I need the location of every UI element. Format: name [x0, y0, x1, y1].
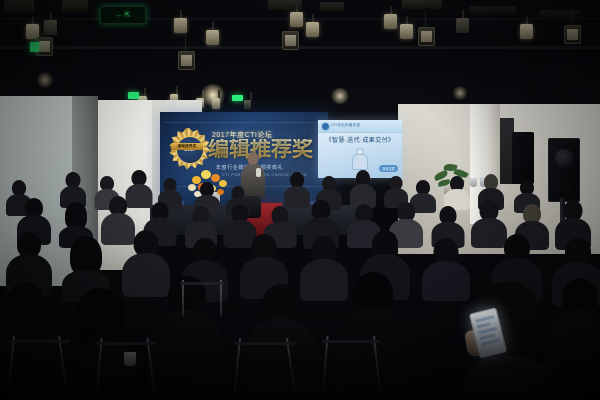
ceiling-beam	[0, 46, 600, 49]
microphone-icon	[256, 168, 261, 177]
exit-sign-glyph: ← ⇱	[116, 12, 131, 19]
folding-chair	[232, 306, 296, 398]
speaker-port	[557, 186, 571, 193]
seal-center: 2017	[176, 136, 204, 164]
slide-speaker-figure	[352, 148, 366, 168]
audience-member-foreground	[552, 278, 600, 400]
pa-loudspeaker	[548, 138, 580, 202]
flower	[188, 184, 196, 191]
audience-member	[352, 170, 374, 206]
award-seal: 2017 编辑推荐奖	[168, 128, 210, 170]
spotlight-glare	[36, 72, 54, 88]
flower	[219, 180, 227, 187]
folding-chair	[322, 300, 382, 396]
conference-photo-scene: ← ⇱ 2017年度CTI论坛 编辑推荐奖 年度行业媒体评选颁奖典礼 CTI F…	[0, 0, 600, 400]
spotlight-glare	[330, 88, 350, 104]
folding-chair	[6, 300, 70, 396]
exit-sign	[30, 42, 39, 52]
phone-display	[473, 312, 504, 354]
wall-loudspeaker	[512, 132, 534, 184]
exit-sign: ← ⇱	[100, 6, 146, 24]
flower	[217, 189, 224, 195]
paper-cup	[124, 352, 136, 366]
folding-chair	[96, 304, 158, 398]
slide-badge: 演讲嘉宾	[379, 165, 398, 172]
folding-chair	[180, 256, 224, 316]
audience-member	[62, 172, 84, 206]
seal-ribbon: 编辑推荐奖	[171, 143, 203, 150]
flower	[201, 170, 211, 179]
audience-member	[286, 172, 308, 206]
exit-sign	[232, 95, 243, 101]
slide-logo-icon	[322, 123, 329, 130]
ceiling-duct	[62, 0, 88, 12]
exit-sign	[128, 92, 139, 99]
ceiling-duct	[470, 6, 516, 14]
ceiling-duct	[320, 2, 344, 11]
spotlight-glare	[452, 86, 468, 100]
banner-headline: 编辑推荐奖	[208, 139, 326, 161]
speaker-cone	[555, 149, 573, 167]
audience-member	[426, 238, 466, 298]
slide-title: 《智慧·迭代·成果交付》	[318, 135, 402, 144]
audience-member	[446, 176, 468, 208]
paper-cup	[470, 178, 477, 187]
ceiling-duct	[402, 0, 442, 9]
ceiling-duct	[540, 10, 580, 18]
slide-header-text: CTI论坛年度评选	[331, 123, 360, 128]
ceiling-duct	[4, 0, 34, 14]
